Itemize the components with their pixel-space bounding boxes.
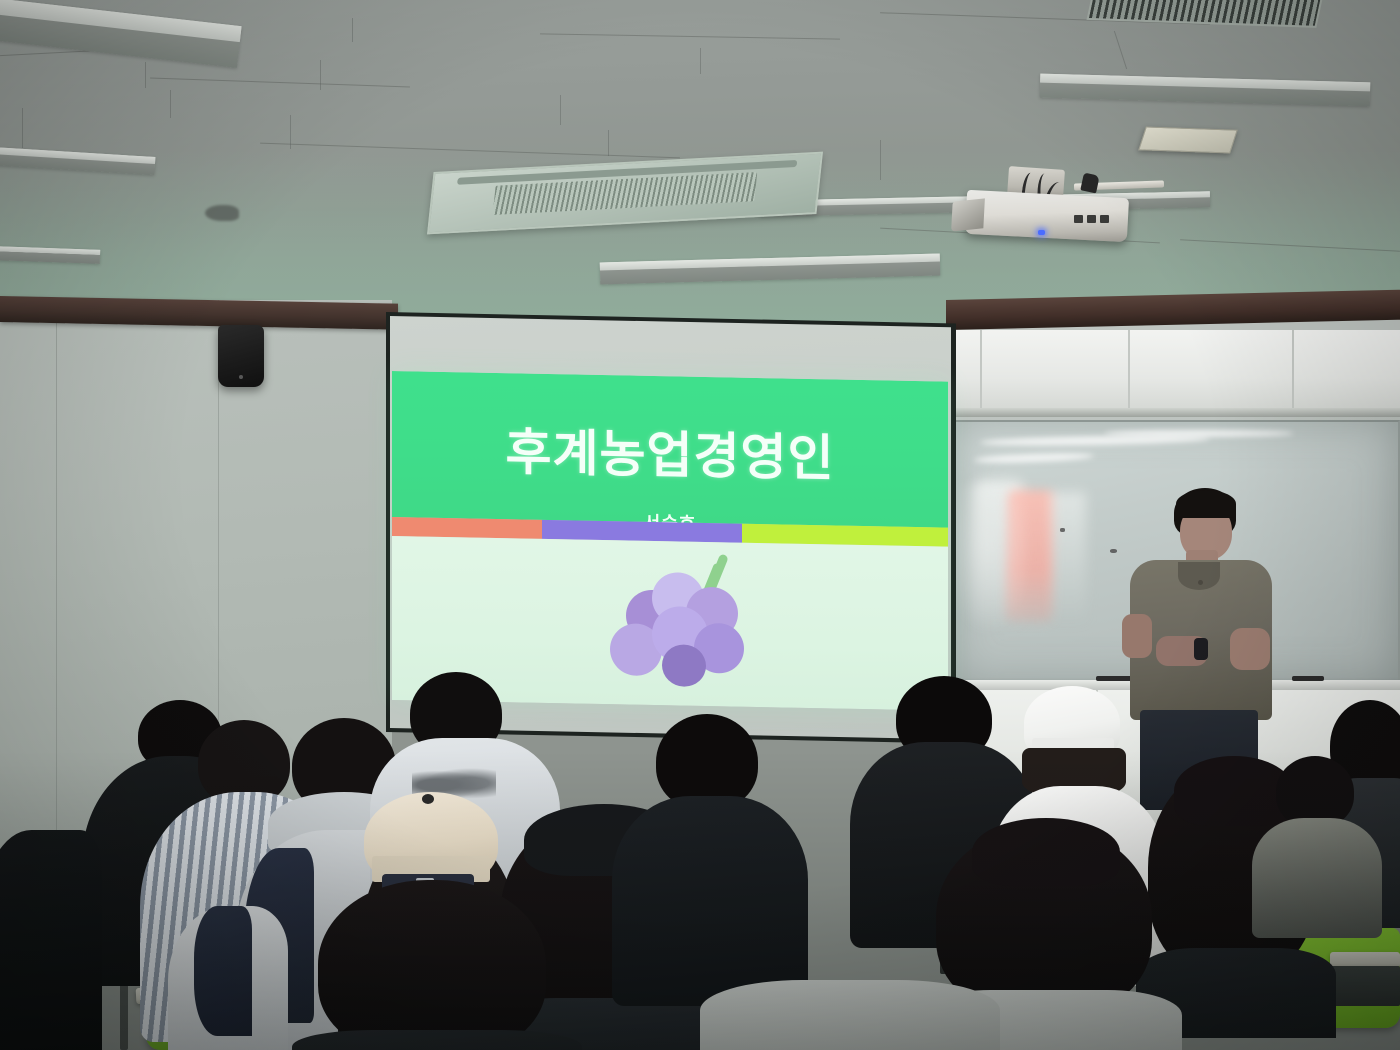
classroom-photo-scene: 후계농업경영인 서승호	[0, 0, 1400, 1050]
cap-button	[422, 794, 434, 804]
ceiling-speaker-box	[1138, 127, 1238, 154]
grape-cluster-illustration	[608, 559, 746, 686]
wall-speaker	[218, 325, 264, 387]
whiteboard-speck	[1060, 528, 1065, 532]
ceiling-seam	[880, 140, 881, 180]
desk-underframe	[1330, 966, 1400, 1006]
student-body	[0, 830, 102, 1050]
ceiling-seam	[290, 115, 291, 149]
student-body	[700, 980, 1000, 1050]
ceiling-seam	[352, 18, 353, 42]
projector-lens	[951, 198, 985, 231]
ceiling-seam	[320, 60, 321, 90]
whiteboard-marker[interactable]	[1292, 676, 1324, 681]
ceiling-seam	[22, 108, 23, 148]
whiteboard-glare	[1104, 430, 1294, 437]
ceiling-seam	[700, 48, 701, 74]
wall-cabinets[interactable]	[952, 330, 1400, 410]
whiteboard-glare	[974, 452, 1094, 464]
whiteboard-reflection	[952, 484, 1030, 634]
slide-title: 후계농업경영인	[392, 410, 948, 493]
presenter-hair	[1176, 490, 1236, 518]
student-body	[612, 796, 808, 1006]
grape-icon	[662, 644, 706, 687]
ceiling-seam	[170, 90, 171, 118]
ceiling-mark	[205, 205, 239, 221]
presenter-right-forearm	[1230, 628, 1270, 670]
whiteboard-reflection	[1050, 492, 1086, 622]
presenter-shirt-button	[1198, 580, 1203, 585]
cabinet-rail	[946, 408, 1400, 417]
ceiling-seam	[608, 130, 609, 156]
projector-port	[1087, 215, 1096, 223]
presenter-left-forearm	[1122, 614, 1152, 658]
projector-port	[1074, 215, 1083, 223]
presentation-slide: 후계농업경영인 서승호	[392, 371, 948, 711]
whiteboard-speck	[1110, 549, 1117, 553]
speaker-indicator	[239, 375, 243, 379]
student-body	[292, 1030, 582, 1050]
projector-status-led	[1038, 230, 1045, 235]
student-body	[1252, 818, 1382, 938]
ceiling-seam	[145, 62, 146, 88]
presenter-collar	[1178, 562, 1220, 590]
student-head	[972, 818, 1120, 886]
ceiling-seam	[560, 95, 561, 125]
student-backpack-strap	[194, 906, 252, 1036]
student-hair	[318, 880, 546, 1050]
projector-port	[1100, 215, 1109, 223]
presenter-wristwatch	[1194, 638, 1208, 660]
